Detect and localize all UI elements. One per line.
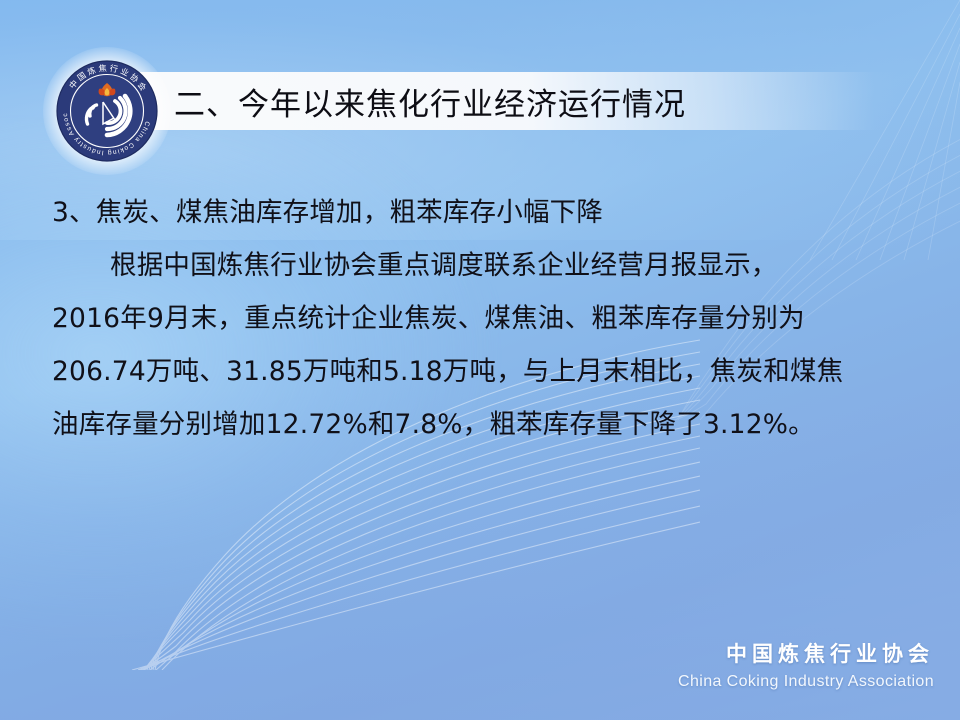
association-logo: 中国炼焦行业协会 China Coking Industry Associati… — [52, 56, 162, 166]
slide-title-band: 二、今年以来焦化行业经济运行情况 — [128, 72, 898, 130]
footer-name-cn: 中国炼焦行业协会 — [678, 641, 934, 667]
footer-name-en: China Coking Industry Association — [678, 672, 934, 692]
body-line: 油库存量分别增加12.72%和7.8%，粗苯库存量下降了3.12%。 — [52, 398, 932, 451]
footer-brand: 中国炼焦行业协会 China Coking Industry Associati… — [678, 641, 934, 692]
body-line: 3、焦炭、煤焦油库存增加，粗苯库存小幅下降 — [52, 186, 932, 239]
slide-root: 二、今年以来焦化行业经济运行情况 中国炼焦行业协会 China Coking I… — [0, 0, 960, 720]
logo-icon: 中国炼焦行业协会 China Coking Industry Associati… — [52, 56, 162, 166]
page-title: 二、今年以来焦化行业经济运行情况 — [174, 79, 686, 124]
body-line: 206.74万吨、31.85万吨和5.18万吨，与上月末相比，焦炭和煤焦 — [52, 345, 932, 398]
body-line: 根据中国炼焦行业协会重点调度联系企业经营月报显示， — [52, 239, 932, 292]
slide-body: 3、焦炭、煤焦油库存增加，粗苯库存小幅下降 根据中国炼焦行业协会重点调度联系企业… — [52, 186, 932, 451]
body-line: 2016年9月末，重点统计企业焦炭、煤焦油、粗苯库存量分别为 — [52, 292, 932, 345]
